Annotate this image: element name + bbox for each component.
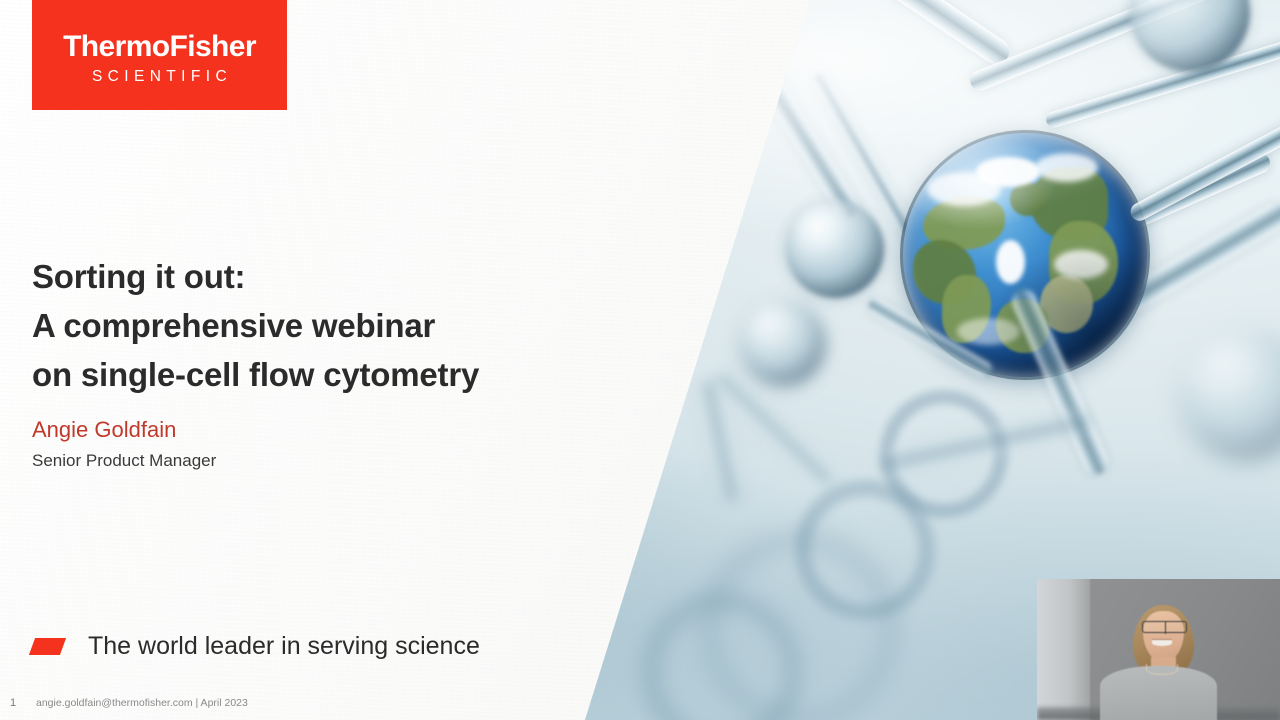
- tagline: The world leader in serving science: [32, 632, 480, 661]
- footer-meta: angie.goldfain@thermofisher.com | April …: [36, 697, 248, 709]
- webcam-wall-left: [1037, 579, 1095, 720]
- slide-title: Sorting it out: A comprehensive webinar …: [32, 252, 592, 399]
- logo-subtext: SCIENTIFIC: [92, 69, 232, 85]
- presenter-necklace: [1146, 664, 1177, 675]
- page-number: 1: [10, 697, 36, 709]
- title-line-2: A comprehensive webinar: [32, 301, 592, 350]
- thermofisher-logo: ThermoFisher SCIENTIFIC: [32, 0, 287, 110]
- logo-wordmark: ThermoFisher: [63, 32, 256, 62]
- presentation-slide: ThermoFisher SCIENTIFIC Sorting it out: …: [0, 0, 1280, 720]
- title-line-3: on single-cell flow cytometry: [32, 350, 592, 399]
- presenter-video-thumbnail[interactable]: [1037, 579, 1280, 720]
- red-parallelogram-icon: [29, 638, 66, 655]
- slide-footer: 1 angie.goldfain@thermofisher.com | Apri…: [10, 697, 248, 709]
- glasses-icon: [1142, 621, 1187, 633]
- presenter-role: Senior Product Manager: [32, 451, 216, 471]
- tagline-text: The world leader in serving science: [88, 632, 480, 661]
- presenter-name: Angie Goldfain: [32, 417, 176, 443]
- title-line-1: Sorting it out:: [32, 252, 592, 301]
